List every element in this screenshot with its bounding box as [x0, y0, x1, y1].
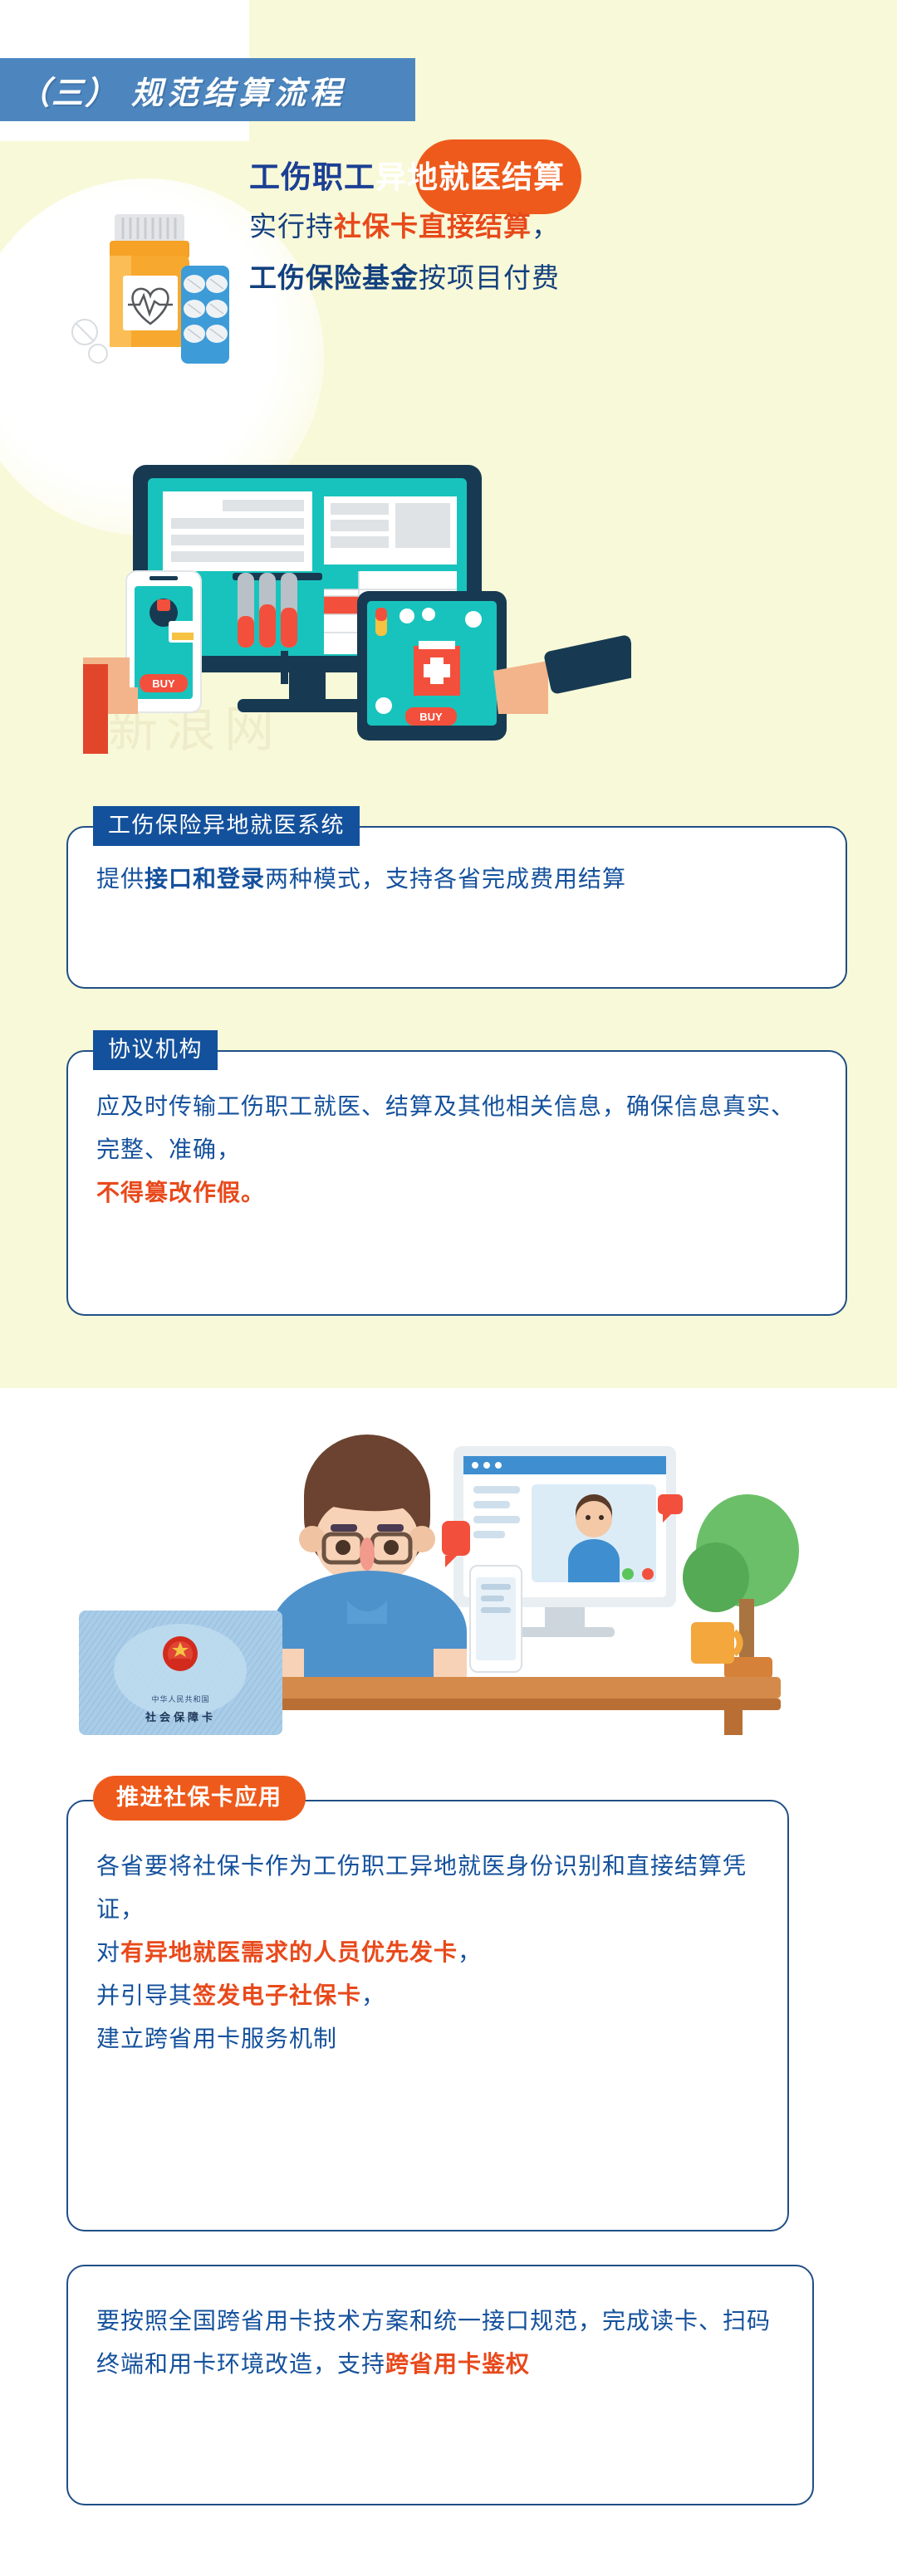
card-promote-text-6: 签发电子社保卡 [193, 1982, 361, 2008]
hero-line2-plain: 实行持 [249, 211, 334, 242]
hero-line2-tail: ， [532, 211, 560, 242]
pill-bottle-icon [66, 208, 249, 365]
hero-line1-white: 异地就医结算 [375, 160, 565, 194]
card-agency-text-1: 应及时传输工伤职工就医、结算及其他相关信息，确保信息真实、完整、准确， [96, 1093, 795, 1162]
hero-line3-plain: 按项目付费 [419, 262, 560, 293]
hero-line-2: 实行持社保卡直接结算， [249, 201, 714, 252]
card-promote-text-5: 并引导其 [96, 1982, 193, 2008]
card-promote-text-4: ， [458, 1939, 482, 1965]
card-agency-tag: 协议机构 [93, 1030, 218, 1070]
hero-line2-highlight: 社保卡直接结算 [334, 211, 532, 242]
hero-headline: 工伤职工异地就医结算 实行持社保卡直接结算， 工伤保险基金按项目付费 [249, 154, 714, 304]
card-system-text-3: 两种模式，支持各省完成费用结算 [265, 866, 626, 892]
card-promote-text-8: 建立跨省用卡服务机制 [96, 2026, 337, 2051]
card-system: 工伤保险异地就医系统 提供接口和登录两种模式，支持各省完成费用结算 [66, 826, 847, 989]
section-title: 规范结算流程 [131, 67, 346, 113]
phone-buy-label: BUY [152, 677, 175, 690]
card-tech: 要按照全国跨省用卡技术方案和统一接口规范，完成读卡、扫码终端和用卡环境改造，支持… [66, 2265, 814, 2505]
card-tech-body: 要按照全国跨省用卡技术方案和统一接口规范，完成读卡、扫码终端和用卡环境改造，支持… [68, 2266, 812, 2411]
ssc-card-line: 社会保障卡 [79, 1708, 282, 1724]
card-agency-body: 应及时传输工伤职工就医、结算及其他相关信息，确保信息真实、完整、准确， 不得篡改… [68, 1052, 846, 1239]
card-promote: 推进社保卡应用 各省要将社保卡作为工伤职工异地就医身份识别和直接结算凭证， 对有… [66, 1800, 789, 2231]
card-system-tag: 工伤保险异地就医系统 [93, 806, 360, 846]
social-security-card-icon: 中华人民共和国 社会保障卡 [79, 1611, 282, 1735]
card-system-text-1: 提供 [96, 866, 145, 892]
ssc-country-line: 中华人民共和国 [79, 1694, 282, 1704]
card-agency: 协议机构 应及时传输工伤职工就医、结算及其他相关信息，确保信息真实、完整、准确，… [66, 1050, 847, 1316]
card-promote-text-2: 对 [96, 1939, 120, 1965]
card-promote-text-1: 各省要将社保卡作为工伤职工异地就医身份识别和直接结算凭证， [96, 1853, 747, 1922]
card-agency-text-2: 不得篡改作假。 [96, 1180, 265, 1205]
hero-line-1: 工伤职工异地就医结算 [249, 154, 714, 201]
section-number: （三） [18, 67, 118, 113]
card-promote-body: 各省要将社保卡作为工伤职工异地就医身份识别和直接结算凭证， 对有异地就医需求的人… [68, 1801, 787, 2085]
hero-line-3: 工伤保险基金按项目付费 [249, 252, 714, 304]
card-system-text-2: 接口和登录 [145, 866, 265, 892]
hero-line1-blue: 工伤职工 [249, 160, 375, 194]
desktop-tablet-phone-icon: BUY BUY [83, 465, 631, 772]
card-promote-text-3: 有异地就医需求的人员优先发卡 [120, 1939, 458, 1965]
card-promote-tag: 推进社保卡应用 [93, 1776, 306, 1821]
card-promote-text-7: ， [361, 1982, 385, 2008]
hero-line3-bold: 工伤保险基金 [249, 262, 419, 293]
card-tech-text-2: 跨省用卡鉴权 [385, 2351, 530, 2377]
tablet-buy-label: BUY [419, 711, 443, 723]
section-heading-banner: （三） 规范结算流程 [0, 58, 415, 121]
